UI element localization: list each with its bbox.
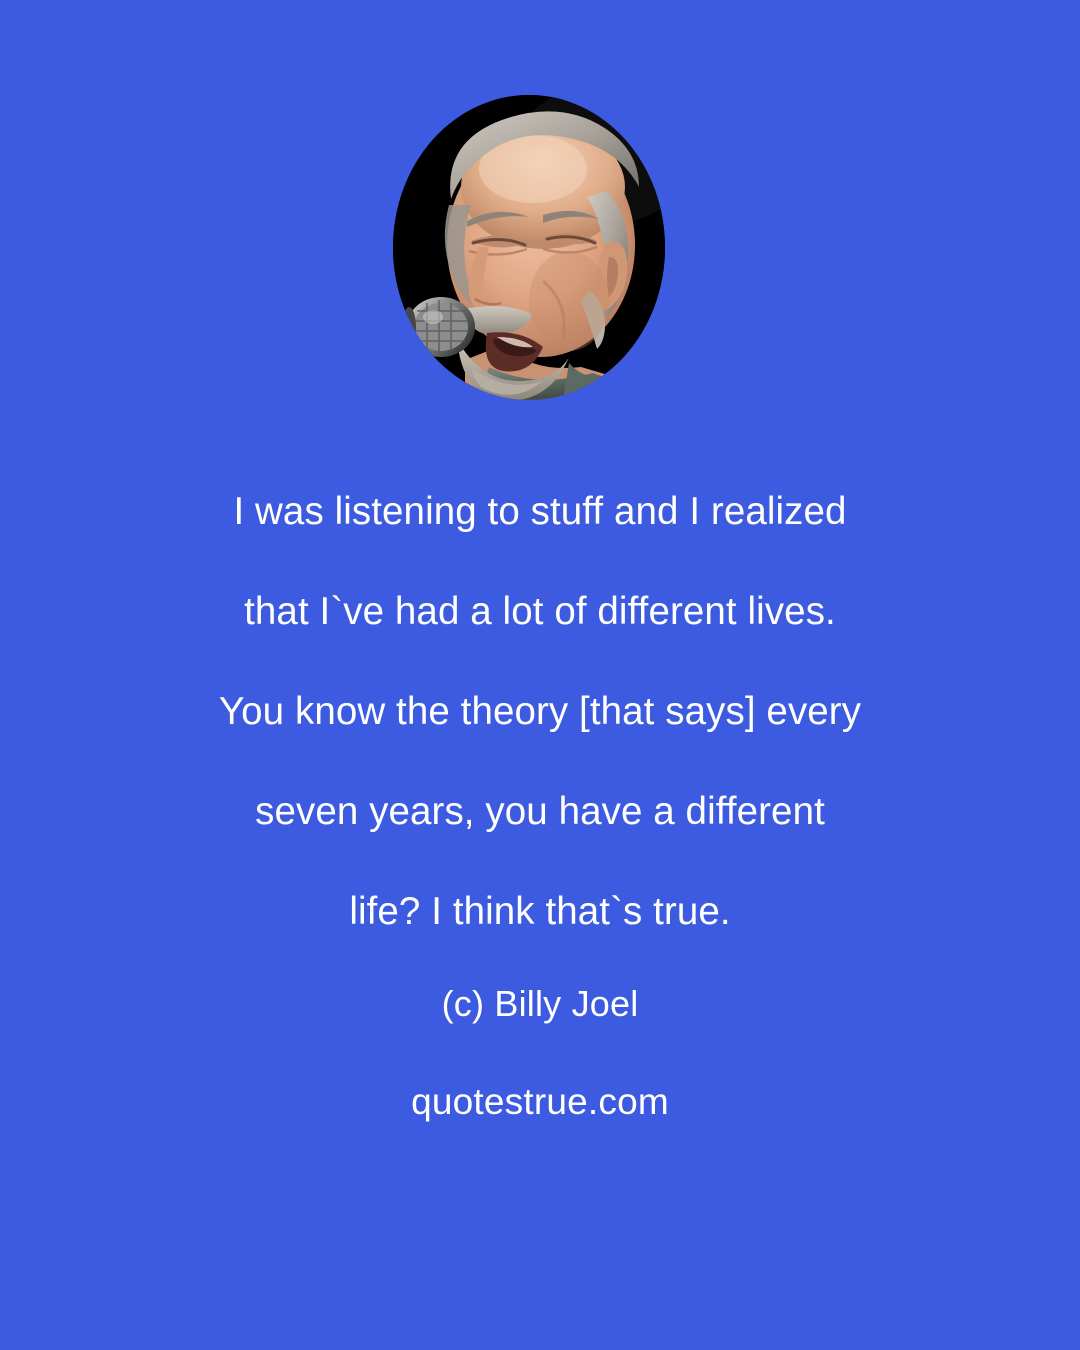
portrait-illustration	[393, 95, 665, 400]
quote-line-3: You know the theory [that says] every	[90, 662, 990, 762]
singer-portrait-photo	[393, 95, 665, 400]
quote-line-5: life? I think that`s true.	[90, 862, 990, 962]
website-url: quotestrue.com	[90, 1078, 990, 1126]
quote-attribution: (c) Billy Joel	[90, 980, 990, 1028]
portrait-container	[393, 95, 665, 400]
quote-line-2: that I`ve had a lot of different lives.	[90, 562, 990, 662]
quote-line-1: I was listening to stuff and I realized	[90, 462, 990, 562]
quote-card: I was listening to stuff and I realized …	[0, 0, 1080, 1350]
quote-text: I was listening to stuff and I realized …	[90, 462, 990, 962]
quote-line-4: seven years, you have a different	[90, 762, 990, 862]
